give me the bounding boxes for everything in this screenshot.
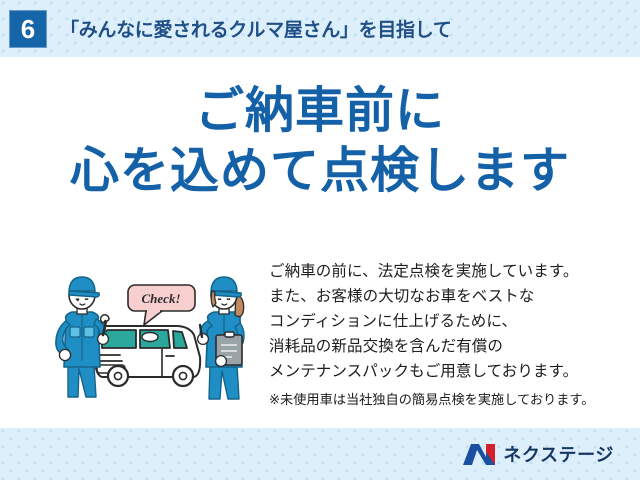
illustration-svg: Check! [50,257,265,412]
nextage-n-mark-icon [462,443,496,466]
female-mechanic [198,277,244,399]
headline-line-2: 心を込めて点検します [0,144,640,200]
step-number-badge: 6 [9,10,47,48]
footer-band: ネクステージ [0,428,640,480]
check-bubble-label: Check! [142,291,181,306]
page-headline: ご納車前に 心を込めて点検します [0,84,640,200]
brand-logo-text: ネクステージ [503,441,614,467]
header-content: 6 「みんなに愛されるクルマ屋さん」を目指して [0,0,640,57]
content-row: Check! [0,253,640,428]
body-disclaimer-note: ※未使用車は当社独自の簡易点検を実施しております。 [269,389,640,410]
body-line-3: コンディションに仕上げるために、 [269,309,640,334]
mechanics-illustration: Check! [50,257,265,412]
advertisement-page: 6 「みんなに愛されるクルマ屋さん」を目指して ご納車前に 心を込めて点検します… [0,0,640,480]
body-copy: ご納車の前に、法定点検を実施しています。 また、お客様の大切なお車をベストな コ… [265,253,640,410]
male-mechanic [56,277,109,397]
header-band: 6 「みんなに愛されるクルマ屋さん」を目指して [0,0,640,57]
main-panel: ご納車前に 心を込めて点検します Check! [0,57,640,428]
check-speech-bubble: Check! [128,285,195,325]
brand-logo: ネクステージ [462,441,614,467]
white-van [95,326,200,386]
body-line-1: ご納車の前に、法定点検を実施しています。 [269,259,640,284]
body-line-4: 消耗品の新品交換を含んだ有償の [269,334,640,359]
body-line-5: メンテナンスパックもご用意しております。 [269,359,640,384]
body-line-2: また、お客様の大切なお車をベストな [269,284,640,309]
headline-line-1: ご納車前に [0,84,640,140]
header-title: 「みんなに愛されるクルマ屋さん」を目指して [60,15,452,42]
